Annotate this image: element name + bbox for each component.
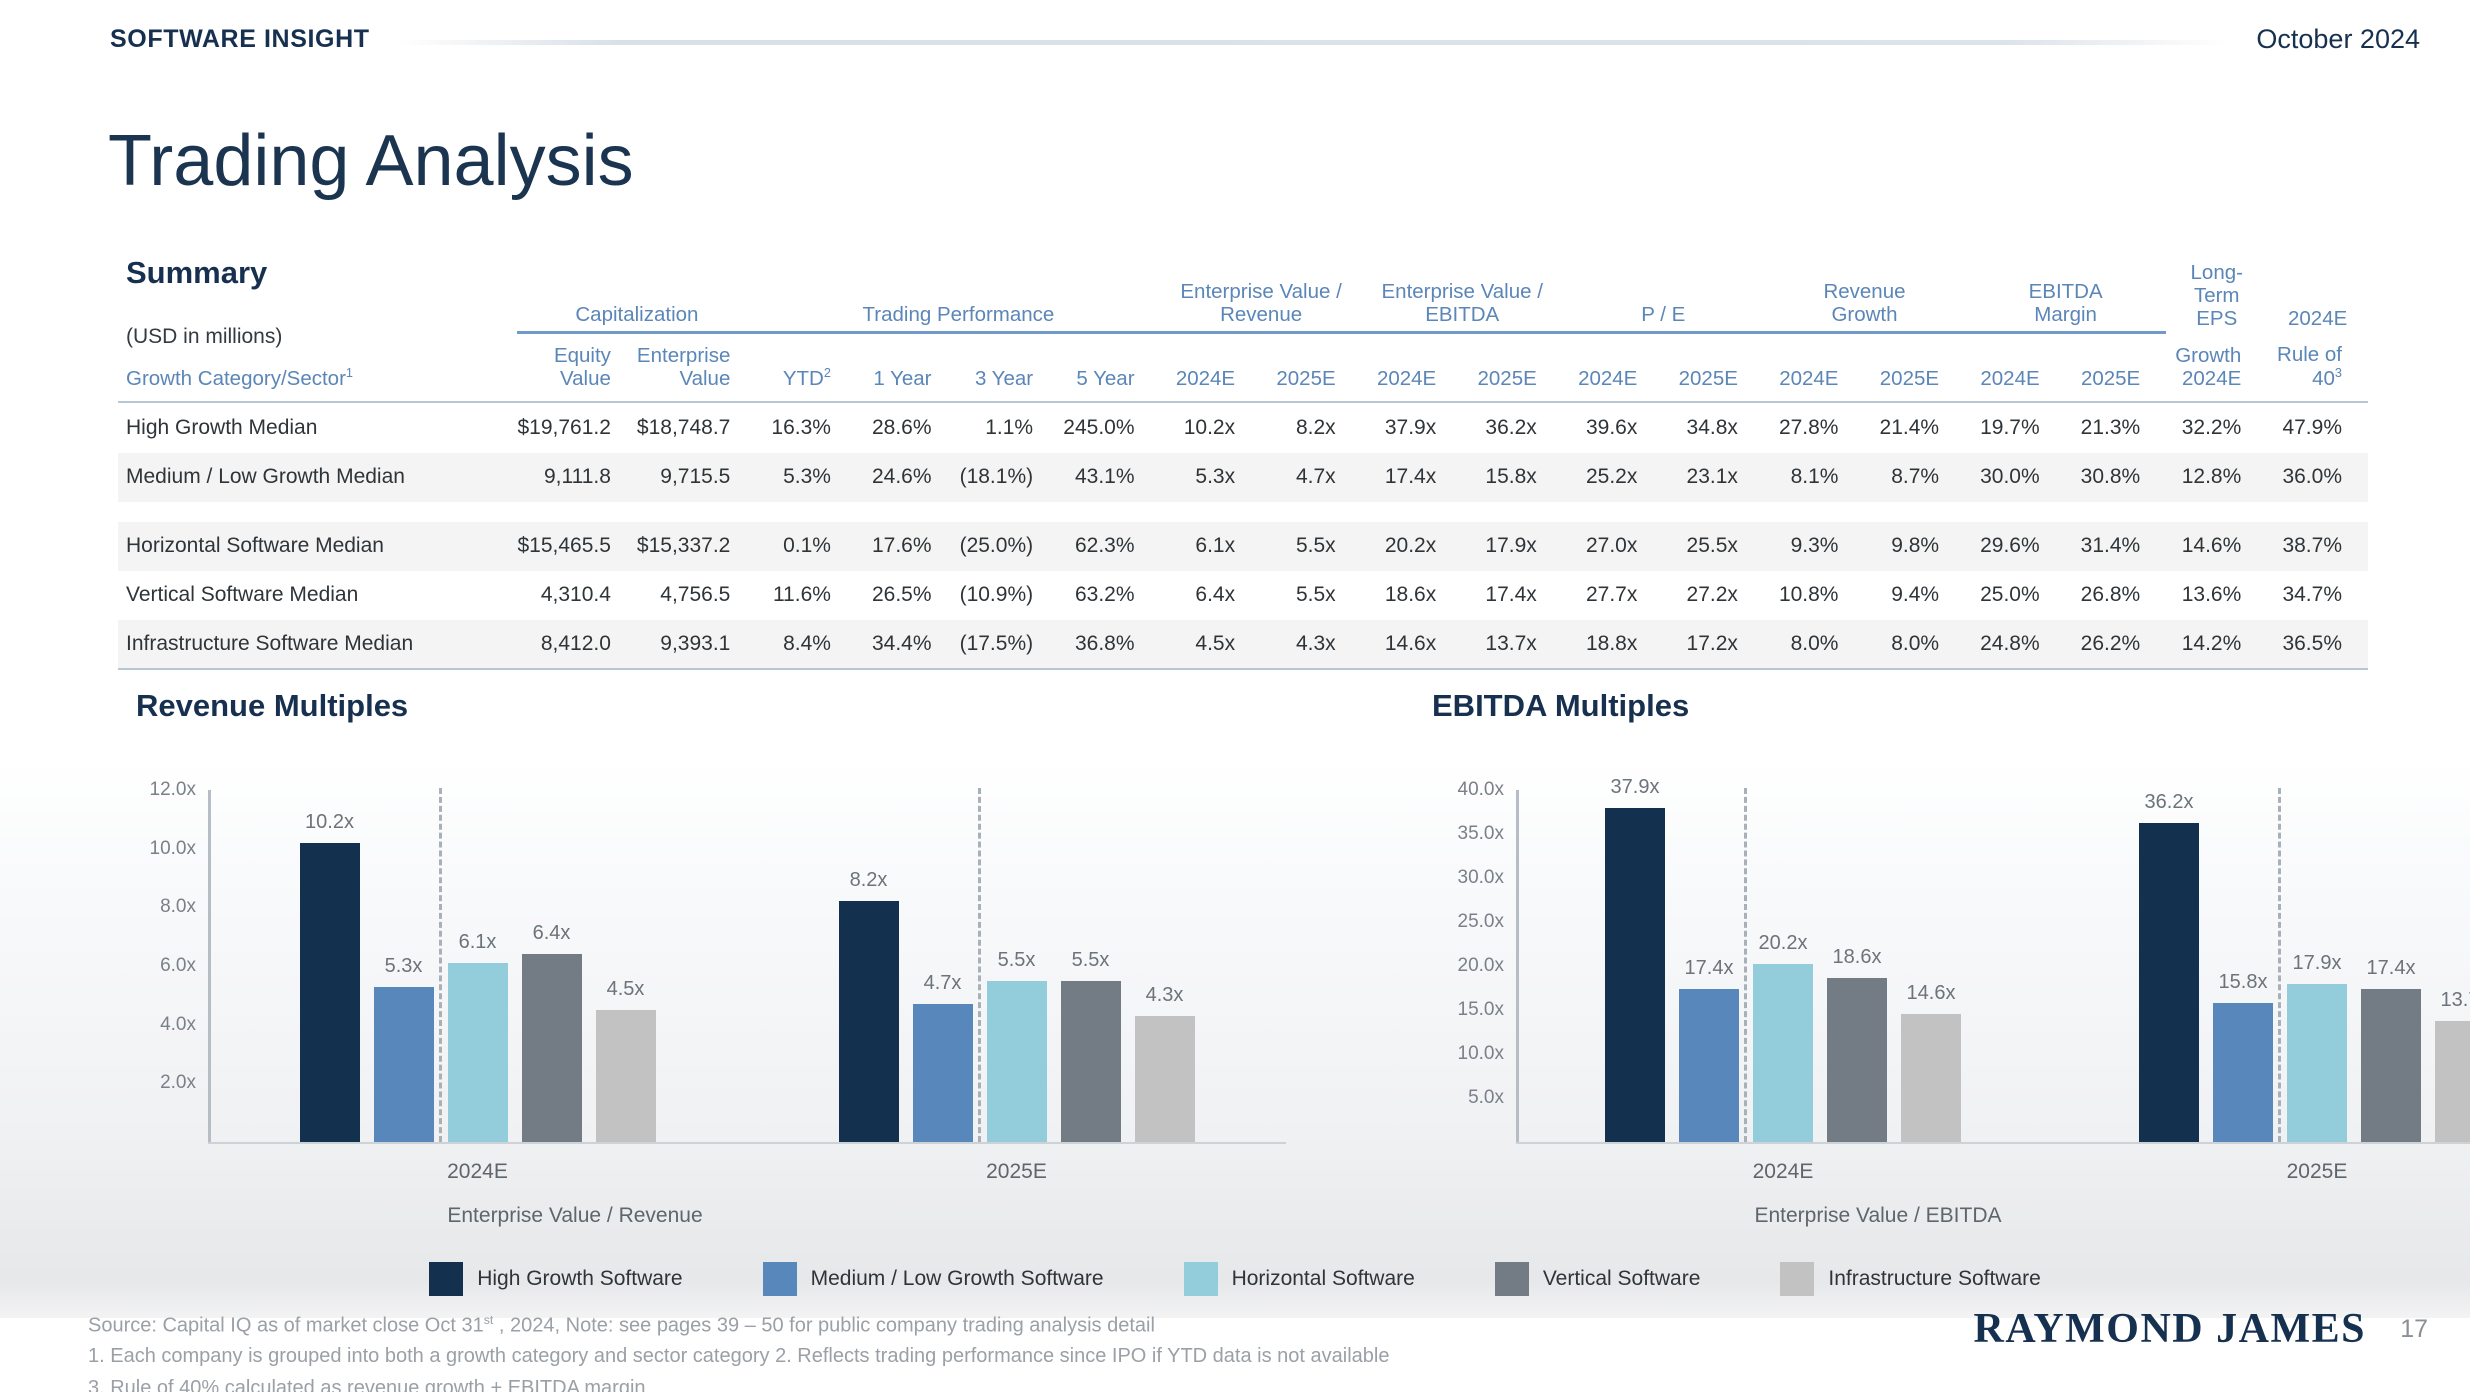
y-axis-tick-label: 5.0x (1424, 1087, 1504, 1109)
bar-value-label: 17.4x (2367, 957, 2416, 980)
table-cell: 38.7% (2267, 522, 2368, 571)
group-header-label: Trading Performance (756, 304, 1160, 327)
bar-medium-low-growth-software (2213, 1003, 2273, 1142)
table-cell: (25.0%) (958, 522, 1060, 571)
table-cell: 63.2% (1059, 571, 1160, 620)
column-header-5: 5 Year (1059, 337, 1160, 402)
legend-swatch-icon (1495, 1262, 1529, 1296)
table-cell: 39.6x (1563, 404, 1664, 453)
group-header-1: Trading Performance (756, 262, 1160, 337)
table-cell: 27.2x (1663, 571, 1764, 620)
column-header-1: Enterprise Value (637, 337, 756, 402)
table-cell: 34.7% (2267, 571, 2368, 620)
group-header-8: 2024E (2267, 262, 2368, 337)
table-cell: 5.5x (1261, 522, 1362, 571)
table-cell: 37.9x (1362, 404, 1463, 453)
bar-value-label: 10.2x (305, 811, 354, 834)
table-cell: 26.2% (2066, 620, 2167, 669)
bar-value-label: 18.6x (1833, 946, 1882, 969)
table-cell: 5.3x (1161, 453, 1262, 502)
table-cell: (17.5%) (958, 620, 1060, 669)
bar-infrastructure-software (2435, 1021, 2470, 1142)
y-axis-tick-label: 8.0x (126, 896, 196, 918)
table-cell: 14.6x (1362, 620, 1463, 669)
column-header-14: 2024E (1965, 337, 2066, 402)
table-cell: 14.6% (2166, 522, 2267, 571)
bar-value-label: 13.7x (2441, 989, 2470, 1012)
table-cell: 36.2x (1462, 404, 1563, 453)
y-axis-tick-label: 12.0x (126, 779, 196, 801)
legend-swatch-icon (1780, 1262, 1814, 1296)
footnote-3: 3. Rule of 40% calculated as revenue gro… (88, 1377, 646, 1392)
table-bottom-rule (118, 669, 2368, 671)
y-axis-line (208, 790, 211, 1142)
x-axis-category-label: 2024E (447, 1160, 508, 1184)
group-underline (1563, 331, 1764, 334)
table-cell: 36.8% (1059, 620, 1160, 669)
x-axis-category-label: 2025E (986, 1160, 1047, 1184)
slide-header: SOFTWARE INSIGHT October 2024 (0, 0, 2470, 78)
table-cell: 62.3% (1059, 522, 1160, 571)
table-cell: 10.2x (1161, 404, 1262, 453)
table-cell: 34.8x (1663, 404, 1764, 453)
table-cell: 9.4% (1864, 571, 1965, 620)
table-cell: 34.4% (857, 620, 958, 669)
table-cell: 25.5x (1663, 522, 1764, 571)
y-axis-tick-label: 20.0x (1424, 955, 1504, 977)
x-axis-title: Enterprise Value / EBITDA (1754, 1204, 2001, 1228)
table-cell: 4.5x (1161, 620, 1262, 669)
bar-horizontal-software (448, 963, 508, 1142)
table-cell: 11.6% (756, 571, 857, 620)
y-axis-tick-label: 25.0x (1424, 911, 1504, 933)
table-cell: 17.9x (1462, 522, 1563, 571)
bar-value-label: 6.1x (459, 931, 497, 954)
group-header-3: Enterprise Value / EBITDA (1362, 262, 1563, 337)
column-header-2: YTD2 (756, 337, 857, 402)
group-header-label: Capitalization (517, 304, 756, 327)
table-cell: 4.7x (1261, 453, 1362, 502)
table-cell: 8.4% (756, 620, 857, 669)
table-cell: $18,748.7 (637, 404, 756, 453)
series-group-divider (978, 788, 981, 1142)
table-gap-cell (118, 502, 2368, 522)
table-cell: 28.6% (857, 404, 958, 453)
column-header-12: 2024E (1764, 337, 1865, 402)
table-cell: 47.9% (2267, 404, 2368, 453)
bar-value-label: 8.2x (850, 869, 888, 892)
revenue-multiples-title: Revenue Multiples (136, 688, 408, 724)
bar-vertical-software (1827, 978, 1887, 1142)
footnote-1-2: 1. Each company is grouped into both a g… (88, 1345, 1389, 1368)
group-header-5: Revenue Growth (1764, 262, 1965, 337)
table-cell: 9,393.1 (637, 620, 756, 669)
table-cell: 8.1% (1764, 453, 1865, 502)
table-cell: 5.3% (756, 453, 857, 502)
bar-value-label: 4.3x (1146, 984, 1184, 1007)
group-header-spacer (118, 262, 517, 337)
table-cell: 8.0% (1764, 620, 1865, 669)
row-label: Medium / Low Growth Median (118, 453, 517, 502)
page-title: Trading Analysis (108, 120, 634, 202)
row-label-column-header: Growth Category/Sector1 (118, 337, 517, 402)
table-cell: 4.3x (1261, 620, 1362, 669)
y-axis-tick-label: 15.0x (1424, 999, 1504, 1021)
bar-medium-low-growth-software (913, 1004, 973, 1142)
table-cell: 26.5% (857, 571, 958, 620)
table-cell: 16.3% (756, 404, 857, 453)
header-divider (396, 40, 2231, 45)
footnote-marker-2: 2 (824, 365, 831, 380)
bar-high-growth-software (1605, 808, 1665, 1142)
series-group-divider (439, 788, 442, 1142)
table-cell: 9,111.8 (517, 453, 636, 502)
y-axis-tick-label: 30.0x (1424, 867, 1504, 889)
bar-value-label: 17.9x (2293, 952, 2342, 975)
table-cell: (18.1%) (958, 453, 1060, 502)
bar-value-label: 20.2x (1759, 932, 1808, 955)
table-cell: 5.5x (1261, 571, 1362, 620)
raymond-james-logo: RAYMOND JAMES (1974, 1305, 2366, 1353)
table-cell: $15,337.2 (637, 522, 756, 571)
table-cell: 36.5% (2267, 620, 2368, 669)
table-cell: 14.2% (2166, 620, 2267, 669)
legend-swatch-icon (429, 1262, 463, 1296)
page-number: 17 (2400, 1315, 2428, 1344)
legend-item: High Growth Software (429, 1262, 682, 1296)
legend-swatch-icon (763, 1262, 797, 1296)
y-axis-tick-label: 35.0x (1424, 823, 1504, 845)
bar-horizontal-software (987, 981, 1047, 1142)
group-header-label: Enterprise Value / Revenue (1161, 281, 1362, 327)
y-axis-tick-label: 40.0x (1424, 779, 1504, 801)
table-cell: $19,761.2 (517, 404, 636, 453)
group-header-row: CapitalizationTrading PerformanceEnterpr… (118, 262, 2368, 337)
legend-label: Vertical Software (1543, 1267, 1701, 1291)
table-cell: 17.4x (1362, 453, 1463, 502)
column-header-0: Equity Value (517, 337, 636, 402)
group-underline (1965, 331, 2166, 334)
y-axis-tick-label: 2.0x (126, 1072, 196, 1094)
group-underline (517, 331, 756, 334)
table-cell: 17.4x (1462, 571, 1563, 620)
table-cell: 32.2% (2166, 404, 2267, 453)
table-cell: 18.8x (1563, 620, 1664, 669)
table-cell: 1.1% (958, 404, 1060, 453)
group-header-7: Long- Term EPS (2166, 262, 2267, 337)
table-cell: (10.9%) (958, 571, 1060, 620)
row-label: High Growth Median (118, 404, 517, 453)
bar-vertical-software (2361, 989, 2421, 1142)
row-label: Horizontal Software Median (118, 522, 517, 571)
ebitda-multiples-chart: 5.0x10.0x15.0x20.0x25.0x30.0x35.0x40.0x3… (1424, 762, 2470, 1202)
table-cell: 13.7x (1462, 620, 1563, 669)
column-header-4: 3 Year (958, 337, 1060, 402)
footnote-marker-3: 3 (2335, 365, 2342, 380)
group-header-4: P / E (1563, 262, 1764, 337)
table-cell: 20.2x (1362, 522, 1463, 571)
table-cell: 23.1x (1663, 453, 1764, 502)
bar-value-label: 4.7x (924, 972, 962, 995)
legend-label: Infrastructure Software (1828, 1267, 2040, 1291)
row-label: Infrastructure Software Median (118, 620, 517, 669)
table-gap-row (118, 502, 2368, 522)
table-cell: 17.6% (857, 522, 958, 571)
table-cell: 29.6% (1965, 522, 2066, 571)
column-header-17: Rule of403 (2267, 337, 2368, 402)
series-group-divider (2278, 788, 2281, 1142)
bar-vertical-software (1061, 981, 1121, 1142)
table-cell: 25.2x (1563, 453, 1664, 502)
bar-value-label: 5.5x (1072, 949, 1110, 972)
group-underline (1161, 331, 1362, 334)
bar-infrastructure-software (596, 1010, 656, 1142)
group-header-label: Enterprise Value / EBITDA (1362, 281, 1563, 327)
bar-value-label: 4.5x (607, 978, 645, 1001)
bar-value-label: 36.2x (2145, 791, 2194, 814)
column-header-9: 2025E (1462, 337, 1563, 402)
table-cell: 17.2x (1663, 620, 1764, 669)
table-cell: 8.7% (1864, 453, 1965, 502)
ebitda-multiples-title: EBITDA Multiples (1432, 688, 1689, 724)
y-axis-tick-label: 10.0x (1424, 1043, 1504, 1065)
column-header-row: Growth Category/Sector1Equity ValueEnter… (118, 337, 2368, 402)
header-date: October 2024 (2256, 24, 2420, 55)
bar-value-label: 5.5x (998, 949, 1036, 972)
table-cell: 4,756.5 (637, 571, 756, 620)
table-cell: 43.1% (1059, 453, 1160, 502)
table-cell: 27.0x (1563, 522, 1664, 571)
footnote-source: Source: Capital IQ as of market close Oc… (88, 1313, 1155, 1338)
x-axis-category-label: 2024E (1753, 1160, 1814, 1184)
group-header-label: 2024E (2267, 308, 2368, 331)
x-axis-category-label: 2025E (2287, 1160, 2348, 1184)
column-header-11: 2025E (1663, 337, 1764, 402)
bar-high-growth-software (2139, 823, 2199, 1142)
group-header-label: Revenue Growth (1764, 281, 1965, 327)
group-header-0: Capitalization (517, 262, 756, 337)
column-header-line: 403 (2267, 366, 2342, 390)
group-header-label: P / E (1563, 304, 1764, 327)
bar-value-label: 14.6x (1907, 982, 1956, 1005)
legend-label: High Growth Software (477, 1267, 682, 1291)
table-row: Infrastructure Software Median8,412.09,3… (118, 620, 2368, 669)
header-kicker: SOFTWARE INSIGHT (110, 25, 370, 54)
table-cell: 21.3% (2066, 404, 2167, 453)
table-cell: 12.8% (2166, 453, 2267, 502)
legend-item: Medium / Low Growth Software (763, 1262, 1104, 1296)
column-header-13: 2025E (1864, 337, 1965, 402)
table-cell: 19.7% (1965, 404, 2066, 453)
table-cell: 6.1x (1161, 522, 1262, 571)
bar-infrastructure-software (1901, 1014, 1961, 1142)
row-label: Vertical Software Median (118, 571, 517, 620)
legend-label: Medium / Low Growth Software (811, 1267, 1104, 1291)
table-cell: 4,310.4 (517, 571, 636, 620)
summary-table: CapitalizationTrading PerformanceEnterpr… (118, 262, 2368, 671)
table-bottom-rule-cell (118, 669, 2368, 671)
group-underline-none (2166, 331, 2267, 334)
table-cell: $15,465.5 (517, 522, 636, 571)
table-cell: 9,715.5 (637, 453, 756, 502)
bar-medium-low-growth-software (1679, 989, 1739, 1142)
table-row: Medium / Low Growth Median9,111.89,715.5… (118, 453, 2368, 502)
group-header-6: EBITDA Margin (1965, 262, 2166, 337)
table-cell: 15.8x (1462, 453, 1563, 502)
table-cell: 27.7x (1563, 571, 1664, 620)
group-underline-none (2267, 331, 2368, 334)
table-row: Vertical Software Median4,310.44,756.511… (118, 571, 2368, 620)
bar-infrastructure-software (1135, 1016, 1195, 1142)
y-axis-tick-label: 4.0x (126, 1014, 196, 1036)
bar-value-label: 6.4x (533, 922, 571, 945)
summary-table-head: CapitalizationTrading PerformanceEnterpr… (118, 262, 2368, 404)
column-header-15: 2025E (2066, 337, 2167, 402)
group-header-label: EBITDA Margin (1965, 281, 2166, 327)
bar-value-label: 17.4x (1685, 957, 1734, 980)
x-axis-baseline (1516, 1142, 2470, 1144)
table-cell: 31.4% (2066, 522, 2167, 571)
table-cell: 8.2x (1261, 404, 1362, 453)
table-cell: 30.0% (1965, 453, 2066, 502)
bar-medium-low-growth-software (374, 987, 434, 1142)
revenue-multiples-chart: 2.0x4.0x6.0x8.0x10.0x12.0x10.2x5.3x6.1x6… (126, 762, 1306, 1202)
table-cell: 8,412.0 (517, 620, 636, 669)
legend-item: Vertical Software (1495, 1262, 1701, 1296)
bar-high-growth-software (300, 843, 360, 1142)
bar-high-growth-software (839, 901, 899, 1142)
slide: SOFTWARE INSIGHT October 2024 Trading An… (0, 0, 2470, 1392)
summary-table-body: High Growth Median$19,761.2$18,748.716.3… (118, 404, 2368, 671)
column-header-7: 2025E (1261, 337, 1362, 402)
table-cell: 10.8% (1764, 571, 1865, 620)
x-axis-baseline (208, 1142, 1286, 1144)
table-row: High Growth Median$19,761.2$18,748.716.3… (118, 404, 2368, 453)
series-group-divider (1744, 788, 1747, 1142)
table-row: Horizontal Software Median$15,465.5$15,3… (118, 522, 2368, 571)
footnote-marker-1: 1 (346, 365, 353, 380)
column-header-3: 1 Year (857, 337, 958, 402)
ordinal-suffix: st (484, 1313, 494, 1327)
summary-table-wrap: CapitalizationTrading PerformanceEnterpr… (118, 262, 2368, 671)
group-header-2: Enterprise Value / Revenue (1161, 262, 1362, 337)
table-cell: 13.6% (2166, 571, 2267, 620)
column-header-16: Growth 2024E (2166, 337, 2267, 402)
group-underline (756, 331, 1160, 334)
legend-swatch-icon (1184, 1262, 1218, 1296)
legend-item: Horizontal Software (1184, 1262, 1415, 1296)
table-cell: 245.0% (1059, 404, 1160, 453)
x-axis-title: Enterprise Value / Revenue (447, 1204, 702, 1228)
table-cell: 24.8% (1965, 620, 2066, 669)
table-cell: 18.6x (1362, 571, 1463, 620)
bar-value-label: 5.3x (385, 955, 423, 978)
legend-label: Horizontal Software (1232, 1267, 1415, 1291)
column-header-line: Rule of (2267, 343, 2342, 367)
y-axis-tick-label: 6.0x (126, 955, 196, 977)
column-header-10: 2024E (1563, 337, 1664, 402)
bar-value-label: 37.9x (1611, 776, 1660, 799)
table-cell: 21.4% (1864, 404, 1965, 453)
y-axis-tick-label: 10.0x (126, 838, 196, 860)
column-header-8: 2024E (1362, 337, 1463, 402)
bar-horizontal-software (2287, 984, 2347, 1142)
table-cell: 6.4x (1161, 571, 1262, 620)
group-underline (1764, 331, 1965, 334)
table-cell: 8.0% (1864, 620, 1965, 669)
table-cell: 26.8% (2066, 571, 2167, 620)
table-cell: 30.8% (2066, 453, 2167, 502)
table-cell: 27.8% (1764, 404, 1865, 453)
bar-horizontal-software (1753, 964, 1813, 1142)
group-underline (1362, 331, 1563, 334)
table-cell: 0.1% (756, 522, 857, 571)
table-cell: 9.3% (1764, 522, 1865, 571)
table-cell: 9.8% (1864, 522, 1965, 571)
table-cell: 24.6% (857, 453, 958, 502)
column-header-6: 2024E (1161, 337, 1262, 402)
bar-value-label: 15.8x (2219, 971, 2268, 994)
bar-vertical-software (522, 954, 582, 1142)
table-cell: 25.0% (1965, 571, 2066, 620)
y-axis-line (1516, 790, 1519, 1142)
legend-item: Infrastructure Software (1780, 1262, 2040, 1296)
table-cell: 36.0% (2267, 453, 2368, 502)
group-header-label: Long- Term EPS (2166, 262, 2267, 331)
